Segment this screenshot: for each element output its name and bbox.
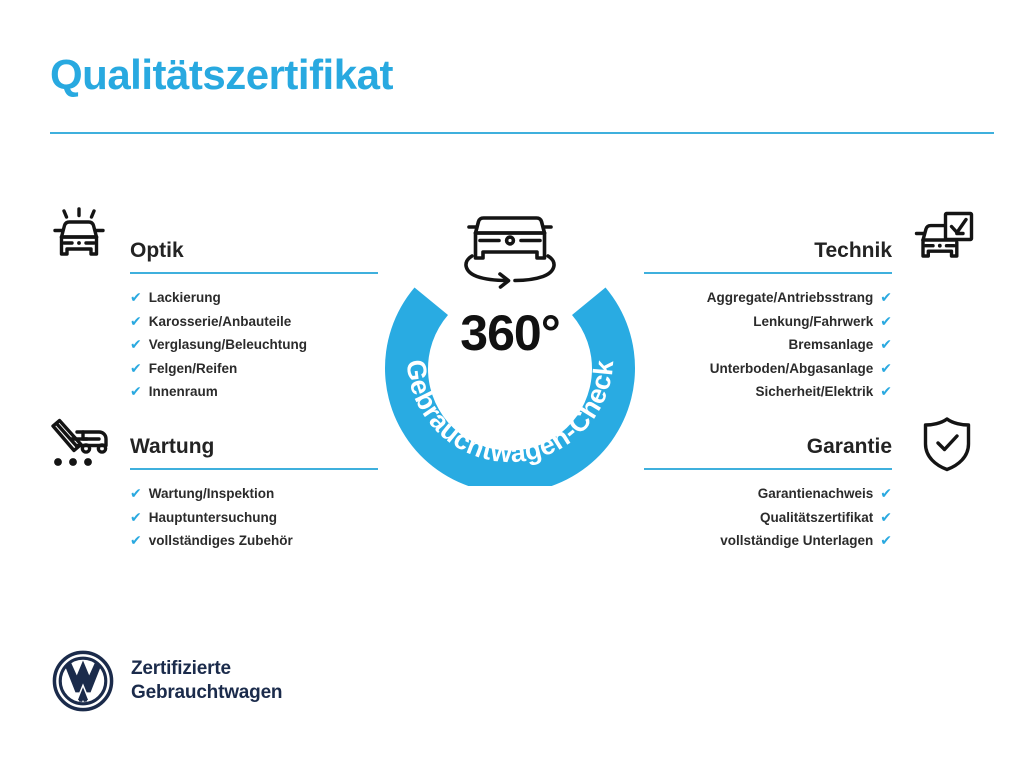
list-item: ✔Karosserie/Anbauteile [130,310,378,334]
footer-line-2: Gebrauchtwagen [131,681,282,705]
list-item: Sicherheit/Elektrik✔ [644,380,892,404]
car-lift-service-icon [44,412,114,476]
check-list-wartung: ✔Wartung/Inspektion ✔Hauptuntersuchung ✔… [130,482,378,553]
list-item-label: Karosserie/Anbauteile [149,310,292,334]
list-item: ✔Hauptuntersuchung [130,506,378,530]
list-item-label: Sicherheit/Elektrik [755,380,873,404]
check-icon: ✔ [130,357,142,381]
list-item-label: Qualitätszertifikat [760,506,873,530]
list-item-label: Aggregate/Antriebsstrang [707,286,874,310]
list-item: Bremsanlage✔ [644,333,892,357]
title-divider [50,132,994,134]
section-title-technik: Technik [644,238,892,264]
list-item-label: Bremsanlage [788,333,873,357]
list-item-label: Lenkung/Fahrwerk [753,310,873,334]
check-icon: ✔ [880,286,892,310]
section-optik: Optik ✔Lackierung ✔Karosserie/Anbauteile… [130,238,378,404]
check-icon: ✔ [130,310,142,334]
check-icon: ✔ [880,482,892,506]
list-item: Lenkung/Fahrwerk✔ [644,310,892,334]
check-list-optik: ✔Lackierung ✔Karosserie/Anbauteile ✔Verg… [130,286,378,404]
gebrauchtwagen-check-badge: Gebrauchtwagen-Check 360° [374,196,646,486]
list-item-label: Hauptuntersuchung [149,506,277,530]
list-item: Aggregate/Antriebsstrang✔ [644,286,892,310]
list-item-label: vollständige Unterlagen [720,529,873,553]
section-divider-technik [644,272,892,274]
list-item-label: Garantienachweis [758,482,874,506]
section-divider-optik [130,272,378,274]
check-icon: ✔ [880,310,892,334]
list-item: Qualitätszertifikat✔ [644,506,892,530]
section-header-technik: Technik [644,238,892,274]
volkswagen-logo [52,650,114,712]
page-title: Qualitätszertifikat [50,52,393,98]
check-icon: ✔ [880,333,892,357]
car-front-headlights-icon [44,204,114,268]
section-title-wartung: Wartung [130,434,378,460]
check-icon: ✔ [130,380,142,404]
section-technik: Technik Aggregate/Antriebsstrang✔ Lenkun… [644,238,892,404]
section-wartung: Wartung ✔Wartung/Inspektion ✔Hauptunters… [130,434,378,553]
section-garantie: Garantie Garantienachweis✔ Qualitätszert… [644,434,892,553]
footer-brand: Zertifizierte Gebrauchtwagen [52,650,282,712]
list-item: ✔Felgen/Reifen [130,357,378,381]
check-icon: ✔ [880,529,892,553]
section-divider-wartung [130,468,378,470]
list-item-label: Innenraum [149,380,218,404]
check-icon: ✔ [130,286,142,310]
section-title-optik: Optik [130,238,378,264]
check-icon: ✔ [130,482,142,506]
section-header-optik: Optik [130,238,378,274]
footer-line-1: Zertifizierte [131,657,282,681]
list-item-label: Lackierung [149,286,221,310]
footer-brand-text: Zertifizierte Gebrauchtwagen [131,657,282,705]
list-item: vollständige Unterlagen✔ [644,529,892,553]
list-item: ✔Lackierung [130,286,378,310]
section-divider-garantie [644,468,892,470]
list-item-label: Wartung/Inspektion [149,482,275,506]
list-item: Unterboden/Abgasanlage✔ [644,357,892,381]
section-title-garantie: Garantie [644,434,892,460]
check-icon: ✔ [880,506,892,530]
list-item: ✔Wartung/Inspektion [130,482,378,506]
check-icon: ✔ [130,506,142,530]
check-icon: ✔ [130,529,142,553]
check-icon: ✔ [880,380,892,404]
check-list-technik: Aggregate/Antriebsstrang✔ Lenkung/Fahrwe… [644,286,892,404]
car-checkbox-icon [910,206,980,270]
list-item: ✔vollständiges Zubehör [130,529,378,553]
list-item-label: Verglasung/Beleuchtung [149,333,307,357]
list-item-label: Felgen/Reifen [149,357,238,381]
check-icon: ✔ [130,333,142,357]
list-item-label: Unterboden/Abgasanlage [710,357,874,381]
list-item: ✔Verglasung/Beleuchtung [130,333,378,357]
section-header-garantie: Garantie [644,434,892,470]
list-item: ✔Innenraum [130,380,378,404]
certificate-page: Qualitätszertifikat [0,0,1024,768]
shield-check-icon [912,412,982,476]
check-list-garantie: Garantienachweis✔ Qualitätszertifikat✔ v… [644,482,892,553]
list-item-label: vollständiges Zubehör [149,529,293,553]
section-header-wartung: Wartung [130,434,378,470]
list-item: Garantienachweis✔ [644,482,892,506]
check-icon: ✔ [880,357,892,381]
